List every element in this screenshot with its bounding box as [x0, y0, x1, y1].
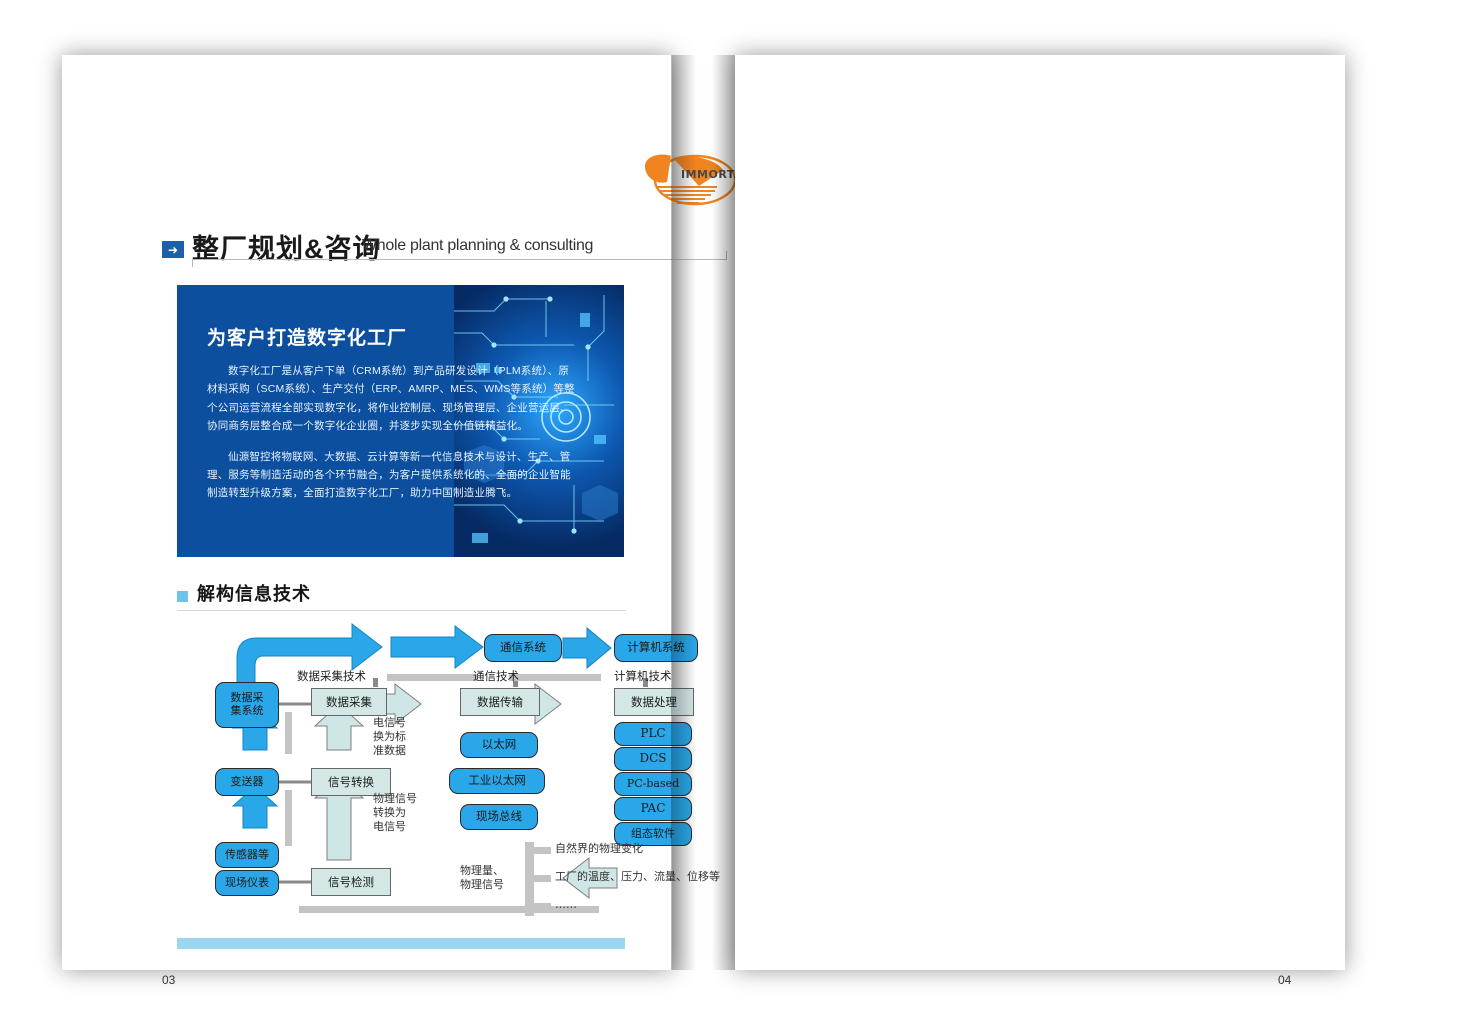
- option-label: 组态软件: [631, 828, 675, 841]
- annotation-phys-quantity: 物理量、物理信号: [460, 864, 504, 892]
- right-page-number: 04: [1278, 973, 1291, 987]
- section-divider: [192, 259, 727, 260]
- hero-title: 为客户打造数字化工厂: [207, 323, 477, 350]
- node-data-acquisition[interactable]: 数据采集: [311, 688, 387, 716]
- label-comm-tech: 通信技术: [473, 668, 519, 684]
- source-item-1: 自然界的物理变化: [555, 842, 643, 856]
- annotation-phys-to-elec: 物理信号转换为电信号: [373, 792, 417, 833]
- node-signal-detection[interactable]: 信号检测: [311, 868, 391, 896]
- node-label: 信号转换: [328, 774, 374, 790]
- option-label: PLC: [640, 727, 665, 741]
- left-page-number: 03: [162, 973, 175, 987]
- option-industrial-ethernet[interactable]: 工业以太网: [449, 768, 545, 794]
- hero-paragraph-1: 数字化工厂是从客户下单（CRM系统）到产品研发设计（PLM系统）、原材料采购（S…: [207, 362, 577, 436]
- subsection-header: 解构信息技术: [177, 582, 627, 616]
- node-label: 信号检测: [328, 874, 374, 890]
- right-page: 专注于非标自动化设计与工业机器人开发应用 Focus on the design…: [735, 55, 1345, 970]
- hero-banner: 为客户打造数字化工厂 数字化工厂是从客户下单（CRM系统）到产品研发设计（PLM…: [177, 285, 624, 557]
- node-data-transmission[interactable]: 数据传输: [460, 688, 540, 716]
- node-field-instrument[interactable]: 现场仪表: [215, 870, 279, 896]
- node-sensor[interactable]: 传感器等: [215, 842, 279, 868]
- option-label: 现场总线: [476, 810, 522, 823]
- node-label: 现场仪表: [225, 877, 269, 890]
- node-data-acq-system[interactable]: 数据采集系统: [215, 682, 279, 728]
- node-label: 传感器等: [225, 849, 269, 862]
- node-label: 数据传输: [477, 694, 523, 710]
- square-bullet-icon: [177, 591, 188, 602]
- option-label: 工业以太网: [468, 774, 526, 787]
- node-label: 变送器: [231, 776, 264, 789]
- node-label: 数据采集: [326, 694, 372, 710]
- tech-bar-2: [509, 674, 601, 681]
- option-label: PAC: [641, 802, 666, 816]
- book-gutter: [671, 55, 737, 970]
- annotation-elec-to-std: 电信号换为标准数据: [373, 716, 406, 757]
- section-header: ➜ 整厂规划&咨询 Whole plant planning & consult…: [162, 233, 632, 269]
- information-technology-diagram: 数据采集系统 通信系统 计算机系统 变送器 传感器等 现场仪表 数据采集技术 通…: [177, 620, 737, 930]
- option-fieldbus[interactable]: 现场总线: [460, 804, 538, 830]
- node-label: 通信系统: [500, 641, 546, 654]
- source-item-3: ……: [555, 898, 577, 912]
- option-label: 以太网: [482, 738, 517, 751]
- section-title-cn: 整厂规划&咨询: [192, 227, 381, 266]
- hero-text: 为客户打造数字化工厂 数字化工厂是从客户下单（CRM系统）到产品研发设计（PLM…: [177, 285, 477, 515]
- arrow-right-icon: ➜: [162, 241, 184, 258]
- label-computer-tech: 计算机技术: [614, 668, 672, 684]
- hero-paragraph-2: 仙源智控将物联网、大数据、云计算等新一代信息技术与设计、生产、管理、服务等制造活…: [207, 448, 577, 503]
- option-ethernet[interactable]: 以太网: [460, 732, 538, 758]
- tech-bar-1: [387, 674, 477, 681]
- option-label: DCS: [639, 752, 666, 766]
- node-comm-system[interactable]: 通信系统: [484, 634, 562, 662]
- node-label: 数据采集系统: [231, 692, 264, 717]
- section-title-en: Whole plant planning & consulting: [362, 237, 593, 255]
- section-tick-left: [192, 259, 193, 267]
- subsection-title: 解构信息技术: [197, 580, 311, 606]
- node-transmitter[interactable]: 变送器: [215, 768, 279, 796]
- left-page: IMMORTAL ➜ 整厂规划&咨询 Whole plant planning …: [62, 55, 672, 970]
- label-data-acq-tech: 数据采集技术: [297, 668, 366, 684]
- subsection-divider: [177, 610, 626, 611]
- brochure-spread: IMMORTAL ➜ 整厂规划&咨询 Whole plant planning …: [0, 0, 1465, 1027]
- left-footer-bar: [177, 938, 625, 949]
